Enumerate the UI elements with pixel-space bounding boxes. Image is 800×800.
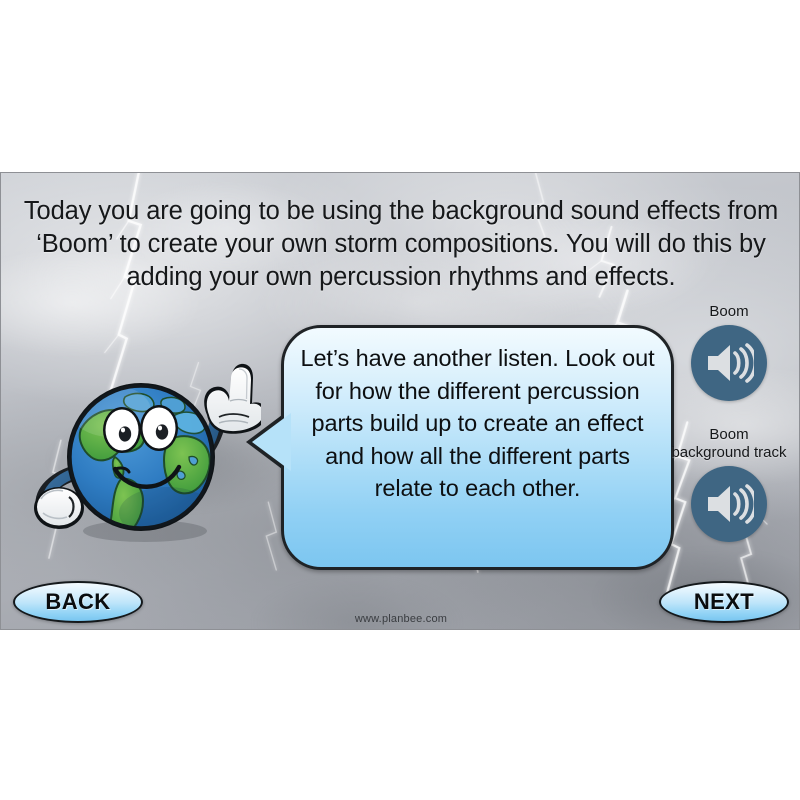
speech-bubble-tail-fill <box>252 413 291 471</box>
speech-bubble: Let’s have another listen. Look out for … <box>246 325 674 570</box>
earth-character <box>29 341 261 551</box>
play-boom-button[interactable] <box>691 325 767 401</box>
screenshot-canvas: Today you are going to be using the back… <box>0 0 800 800</box>
sound-label-line-1: Boom <box>665 426 793 444</box>
speech-bubble-text: Let’s have another listen. Look out for … <box>298 342 657 505</box>
speaker-icon <box>704 342 754 384</box>
next-button-label: NEXT <box>694 589 754 615</box>
slide-heading: Today you are going to be using the back… <box>23 195 779 294</box>
footer-url: www.planbee.com <box>1 613 800 625</box>
sound-label-boom: Boom <box>665 303 793 321</box>
play-boom-background-track-button[interactable] <box>691 466 767 542</box>
speech-bubble-body: Let’s have another listen. Look out for … <box>281 325 674 570</box>
sound-label-boom-background-track: Boom background track <box>665 426 793 462</box>
presentation-slide: Today you are going to be using the back… <box>0 172 800 630</box>
speaker-icon <box>704 483 754 525</box>
sound-control-boom: Boom <box>665 303 793 401</box>
sound-label-line-2: background track <box>665 444 793 462</box>
back-button-label: BACK <box>45 589 110 615</box>
sound-control-boom-background-track: Boom background track <box>665 426 793 542</box>
